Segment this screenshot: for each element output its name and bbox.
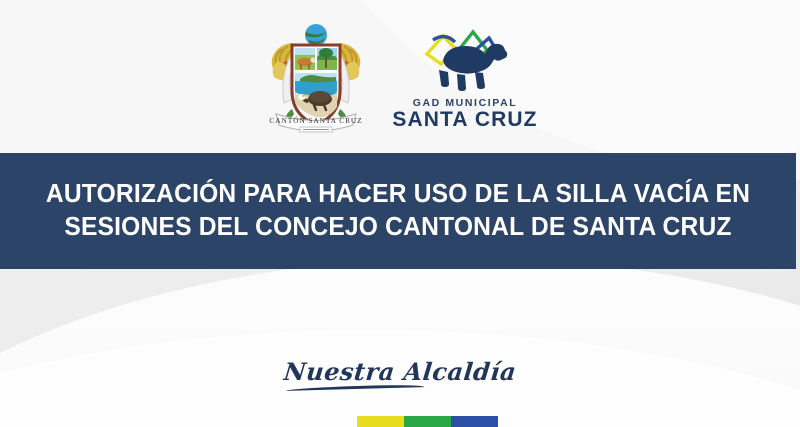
gad-santa-cruz-label: SANTA CRUZ [392, 109, 537, 131]
slogan-text: Nuestra Alcaldía [282, 357, 517, 386]
blue-segment [451, 416, 498, 427]
tortoise-logo-icon [413, 24, 517, 96]
poster-canvas: CANTÓN SANTA CRUZ GAD MUNICIPAL SANTA CR… [0, 0, 800, 427]
slogan-row: Nuestra Alcaldía [0, 357, 800, 386]
coat-of-arms-icon: CANTÓN SANTA CRUZ [262, 21, 370, 135]
gad-municipal-lockup: GAD MUNICIPAL SANTA CRUZ [392, 24, 537, 131]
title-band: AUTORIZACIÓN PARA HACER USO DE LA SILLA … [0, 153, 796, 269]
poster-title-line-1: AUTORIZACIÓN PARA HACER USO DE LA SILLA … [31, 178, 764, 211]
green-segment [404, 416, 451, 427]
poster-title-line-2: SESIONES DEL CONCEJO CANTONAL DE SANTA C… [31, 211, 764, 244]
poster-title: AUTORIZACIÓN PARA HACER USO DE LA SILLA … [31, 178, 764, 244]
footer-color-bar [357, 416, 498, 427]
logo-row: CANTÓN SANTA CRUZ GAD MUNICIPAL SANTA CR… [0, 18, 800, 138]
yellow-segment [357, 416, 404, 427]
svg-text:CANTÓN SANTA CRUZ: CANTÓN SANTA CRUZ [270, 115, 363, 125]
slogan-label: Nuestra Alcaldía [282, 357, 517, 386]
